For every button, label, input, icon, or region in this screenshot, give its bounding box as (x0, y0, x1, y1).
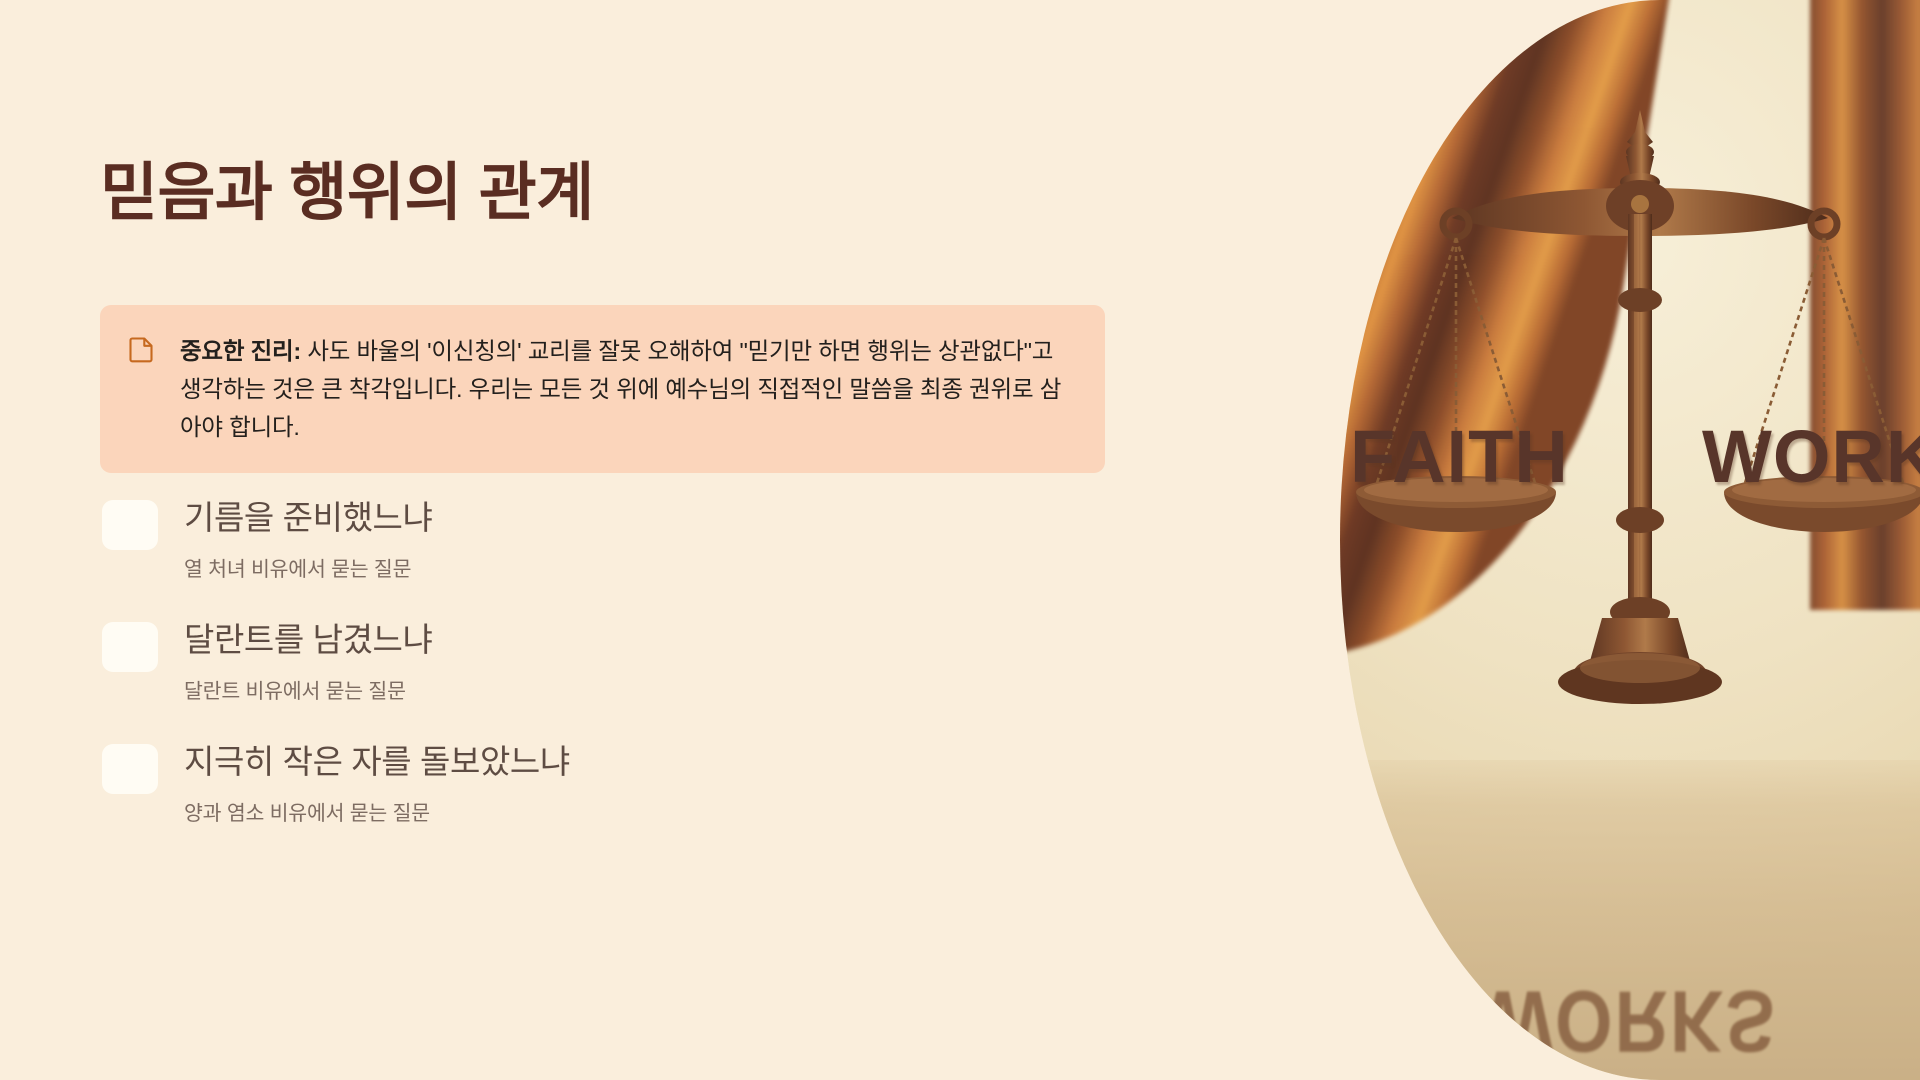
callout-label: 중요한 진리: (180, 338, 301, 364)
list-item-subtitle: 열 처녀 비유에서 묻는 질문 (184, 552, 1110, 582)
question-list: 기름을 준비했느냐 열 처녀 비유에서 묻는 질문 달란트를 남겼느냐 달란트 … (100, 497, 1110, 863)
list-item-title: 지극히 작은 자를 돌보았느냐 (184, 741, 1110, 782)
key-truth-callout: 중요한 진리: 사도 바울의 '이신칭의' 교리를 잘못 오해하여 "믿기만 하… (100, 305, 1105, 473)
water-reflection-area: WORKS (1340, 760, 1920, 1080)
balance-scale-image-panel: FAITH WORKS WORKS (1340, 0, 1920, 1080)
image-background: FAITH WORKS WORKS (1340, 0, 1920, 1080)
callout-body: 사도 바울의 '이신칭의' 교리를 잘못 오해하여 "믿기만 하면 행위는 상관… (180, 338, 1061, 440)
works-label: WORKS (1702, 414, 1920, 499)
callout-text: 중요한 진리: 사도 바울의 '이신칭의' 교리를 잘못 오해하여 "믿기만 하… (180, 332, 1075, 446)
checkbox-marker[interactable] (102, 622, 158, 672)
content-column: 믿음과 행위의 관계 중요한 진리: 사도 바울의 '이신칭의' 교리를 잘못 … (100, 0, 1110, 1080)
checkbox-marker[interactable] (102, 500, 158, 550)
faith-label: FAITH (1350, 414, 1569, 499)
checkbox-marker[interactable] (102, 744, 158, 794)
list-item-subtitle: 달란트 비유에서 묻는 질문 (184, 674, 1110, 704)
list-item-title: 달란트를 남겼느냐 (184, 619, 1110, 660)
list-item[interactable]: 기름을 준비했느냐 열 처녀 비유에서 묻는 질문 (100, 497, 1110, 619)
list-item[interactable]: 달란트를 남겼느냐 달란트 비유에서 묻는 질문 (100, 619, 1110, 741)
slide-canvas: 믿음과 행위의 관계 중요한 진리: 사도 바울의 '이신칭의' 교리를 잘못 … (0, 0, 1920, 1080)
list-item-title: 기름을 준비했느냐 (184, 497, 1110, 538)
list-item[interactable]: 지극히 작은 자를 돌보았느냐 양과 염소 비유에서 묻는 질문 (100, 741, 1110, 863)
page-title: 믿음과 행위의 관계 (100, 160, 594, 226)
list-item-subtitle: 양과 염소 비유에서 묻는 질문 (184, 796, 1110, 826)
sticky-note-icon (128, 337, 154, 363)
reflection-label: WORKS (1340, 971, 1920, 1071)
